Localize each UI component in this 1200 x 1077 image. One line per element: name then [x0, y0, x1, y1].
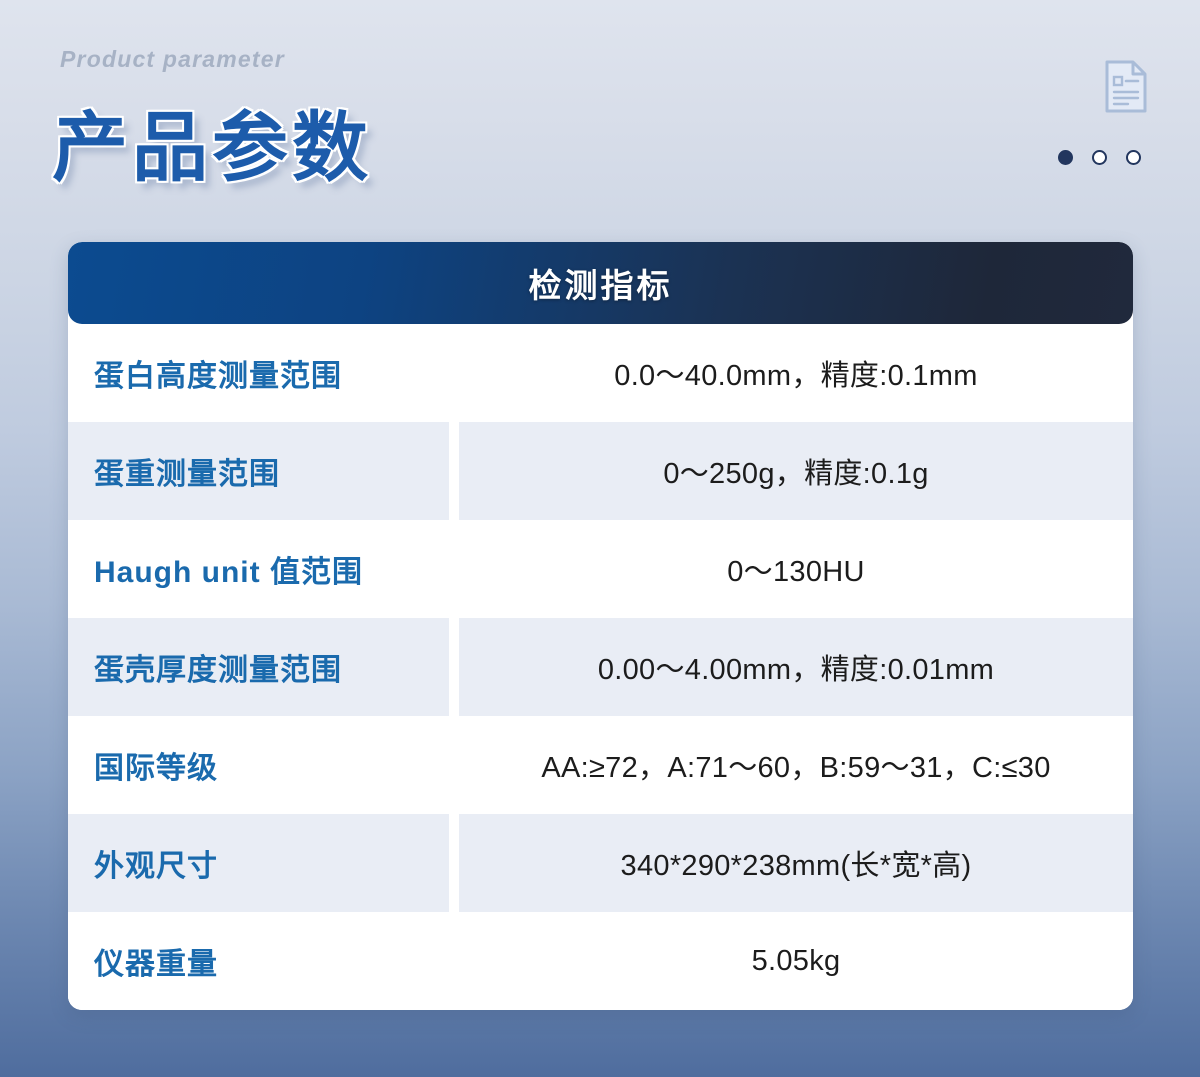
column-gutter: [449, 520, 459, 618]
table-row: 国际等级 AA:≥72，A:71〜60，B:59〜31，C:≤30: [68, 716, 1133, 814]
row-value: 0〜130HU: [459, 520, 1133, 618]
row-value: 0.00〜4.00mm，精度:0.01mm: [459, 618, 1133, 716]
page-header: Product parameter 产品参数: [0, 0, 1200, 225]
parameter-card: 检测指标 蛋白高度测量范围 0.0〜40.0mm，精度:0.1mm 蛋重测量范围…: [68, 242, 1133, 1010]
row-label: 蛋白高度测量范围: [68, 324, 449, 422]
table-row: 蛋重测量范围 0〜250g，精度:0.1g: [68, 422, 1133, 520]
row-value: 0〜250g，精度:0.1g: [459, 422, 1133, 520]
column-gutter: [449, 716, 459, 814]
parameter-table: 蛋白高度测量范围 0.0〜40.0mm，精度:0.1mm 蛋重测量范围 0〜25…: [68, 324, 1133, 1010]
pagination-dots: [1058, 150, 1141, 165]
column-gutter: [449, 618, 459, 716]
column-gutter: [449, 422, 459, 520]
row-label: 仪器重量: [68, 912, 449, 1010]
page-eyebrow: Product parameter: [60, 46, 285, 73]
row-label: 蛋重测量范围: [68, 422, 449, 520]
column-gutter: [449, 324, 459, 422]
table-row: 仪器重量 5.05kg: [68, 912, 1133, 1010]
pagination-dot-2[interactable]: [1092, 150, 1107, 165]
table-row: 外观尺寸 340*290*238mm(长*宽*高): [68, 814, 1133, 912]
document-icon: [1104, 60, 1148, 114]
row-label: 国际等级: [68, 716, 449, 814]
row-value: 0.0〜40.0mm，精度:0.1mm: [459, 324, 1133, 422]
table-header-title: 检测指标: [529, 259, 673, 307]
pagination-dot-1[interactable]: [1058, 150, 1073, 165]
column-gutter: [449, 814, 459, 912]
table-row: 蛋壳厚度测量范围 0.00〜4.00mm，精度:0.01mm: [68, 618, 1133, 716]
row-value: AA:≥72，A:71〜60，B:59〜31，C:≤30: [459, 716, 1133, 814]
table-row: 蛋白高度测量范围 0.0〜40.0mm，精度:0.1mm: [68, 324, 1133, 422]
row-label: 外观尺寸: [68, 814, 449, 912]
row-label: Haugh unit 值范围: [68, 520, 449, 618]
row-value: 5.05kg: [459, 912, 1133, 1010]
table-header-bar: 检测指标: [68, 242, 1133, 324]
column-gutter: [449, 912, 459, 1010]
row-label: 蛋壳厚度测量范围: [68, 618, 449, 716]
row-value: 340*290*238mm(长*宽*高): [459, 814, 1133, 912]
table-row: Haugh unit 值范围 0〜130HU: [68, 520, 1133, 618]
page-title: 产品参数: [52, 86, 372, 196]
pagination-dot-3[interactable]: [1126, 150, 1141, 165]
